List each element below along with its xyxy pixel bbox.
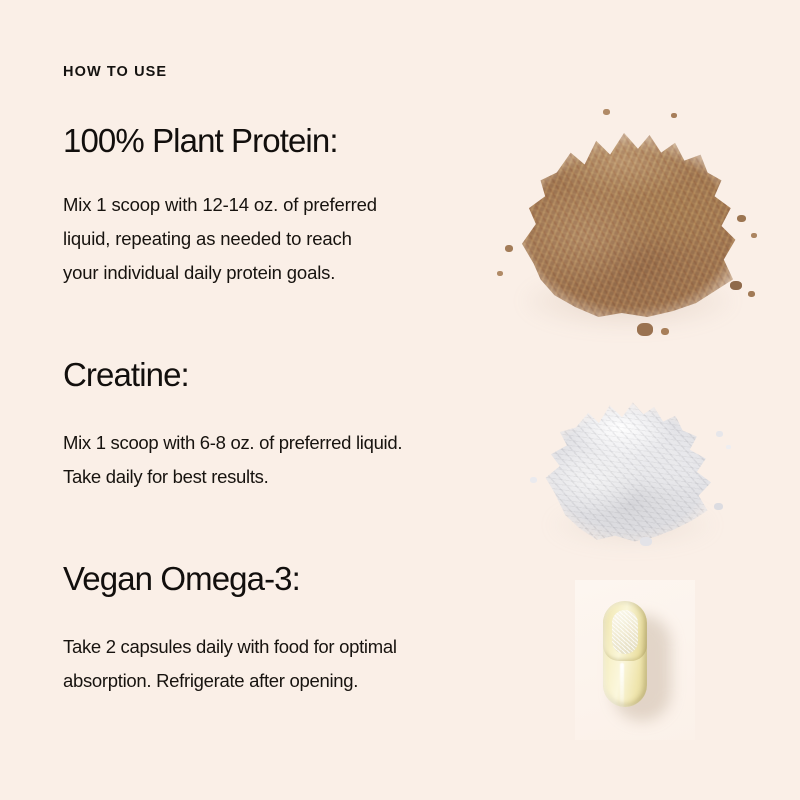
powder-crumb: [748, 291, 755, 297]
powder-crumb: [671, 113, 677, 118]
usage-body-line: Take 2 capsules daily with food for opti…: [63, 630, 463, 664]
usage-title-vegan-omega-3: Vegan Omega-3:: [63, 560, 483, 599]
usage-body-line: Take daily for best results.: [63, 460, 463, 494]
powder-crumb: [637, 323, 653, 336]
omega-3-capsule: [603, 601, 647, 707]
powder-crumb: [726, 445, 731, 449]
usage-body-line: Mix 1 scoop with 12-14 oz. of preferred: [63, 188, 463, 222]
powder-crumb: [603, 109, 610, 115]
protein-powder-mound: [515, 121, 747, 319]
usage-body-creatine: Mix 1 scoop with 6-8 oz. of preferred li…: [63, 426, 463, 494]
powder-crumb: [661, 328, 669, 335]
omega-3-capsule-image: [560, 565, 740, 750]
creatine-powder-image: [520, 385, 750, 565]
usage-body-vegan-omega-3: Take 2 capsules daily with food for opti…: [63, 630, 463, 698]
how-to-use-panel: HOW TO USE 100% Plant Protein: Mix 1 sco…: [0, 0, 800, 800]
usage-body-line: your individual daily protein goals.: [63, 256, 463, 290]
capsule-edge-shading: [603, 601, 647, 707]
usage-body-line: Mix 1 scoop with 6-8 oz. of preferred li…: [63, 426, 463, 460]
usage-title-plant-protein: 100% Plant Protein:: [63, 122, 483, 161]
powder-crumb: [497, 271, 503, 276]
powder-texture-overlay: [515, 121, 747, 319]
powder-crumb: [751, 233, 757, 238]
usage-section-vegan-omega-3: Vegan Omega-3: Take 2 capsules daily wit…: [63, 560, 483, 698]
usage-section-plant-protein: 100% Plant Protein: Mix 1 scoop with 12-…: [63, 122, 483, 290]
powder-crumb: [505, 245, 513, 252]
instructions-column: HOW TO USE 100% Plant Protein: Mix 1 sco…: [63, 0, 483, 800]
usage-body-plant-protein: Mix 1 scoop with 12-14 oz. of preferred …: [63, 188, 463, 290]
usage-section-creatine: Creatine: Mix 1 scoop with 6-8 oz. of pr…: [63, 356, 483, 494]
powder-crumb: [716, 431, 723, 437]
powder-crumb: [714, 503, 723, 510]
powder-crumb: [730, 281, 742, 290]
usage-body-line: absorption. Refrigerate after opening.: [63, 664, 463, 698]
usage-title-creatine: Creatine:: [63, 356, 483, 395]
chocolate-protein-powder-image: [485, 95, 785, 360]
usage-body-line: liquid, repeating as needed to reach: [63, 222, 463, 256]
powder-crumb: [530, 477, 537, 483]
section-eyebrow-label: HOW TO USE: [63, 64, 167, 80]
powder-crumb: [640, 537, 652, 546]
powder-crumb: [737, 215, 746, 222]
